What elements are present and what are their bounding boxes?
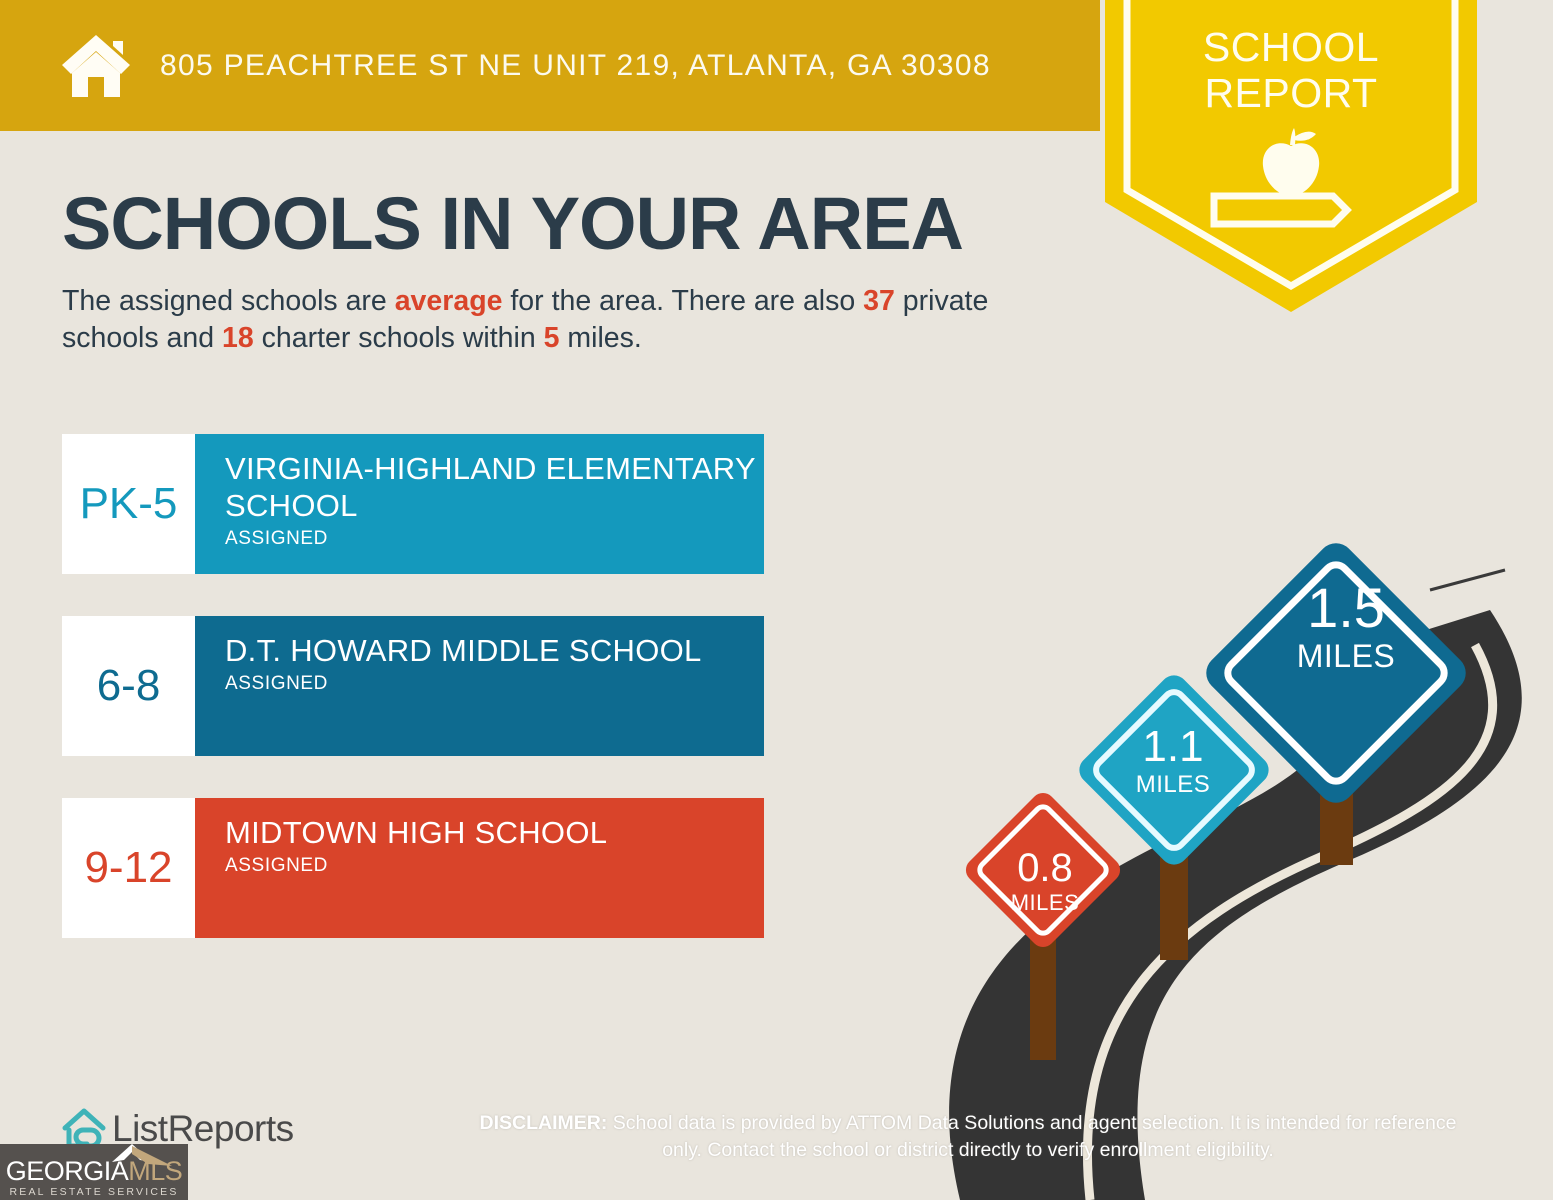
grade-range-badge: 9-12 bbox=[62, 798, 195, 938]
grade-range-label: 9-12 bbox=[84, 843, 172, 893]
school-card-body: VIRGINIA-HIGHLAND ELEMENTARY SCHOOL ASSI… bbox=[195, 434, 764, 574]
mls-georgia-text: GEORGIA bbox=[6, 1156, 129, 1186]
grade-range-label: 6-8 bbox=[97, 661, 161, 711]
school-status: ASSIGNED bbox=[225, 855, 764, 877]
school-name: VIRGINIA-HIGHLAND ELEMENTARY SCHOOL bbox=[225, 450, 764, 524]
grade-range-badge: PK-5 bbox=[62, 434, 195, 574]
georgia-mls-logo[interactable]: GEORGIAMLS REAL ESTATE SERVICES bbox=[0, 1144, 188, 1200]
school-card[interactable]: PK-5 VIRGINIA-HIGHLAND ELEMENTARY SCHOOL… bbox=[62, 434, 764, 574]
summary-part-4: charter schools within bbox=[254, 322, 544, 354]
rating-value: average bbox=[395, 285, 503, 317]
search-radius: 5 bbox=[544, 322, 560, 354]
grade-range-badge: 6-8 bbox=[62, 616, 195, 756]
property-address: 805 PEACHTREE ST NE UNIT 219, ATLANTA, G… bbox=[160, 49, 991, 83]
mls-wordmark: GEORGIAMLS bbox=[0, 1156, 188, 1187]
school-card[interactable]: 6-8 D.T. HOWARD MIDDLE SCHOOL ASSIGNED bbox=[62, 616, 764, 756]
school-name: D.T. HOWARD MIDDLE SCHOOL bbox=[225, 632, 764, 669]
school-card-body: D.T. HOWARD MIDDLE SCHOOL ASSIGNED bbox=[195, 616, 764, 756]
school-card-body: MIDTOWN HIGH SCHOOL ASSIGNED bbox=[195, 798, 764, 938]
distance-road-illustration bbox=[930, 470, 1553, 1200]
page-title: SCHOOLS IN YOUR AREA bbox=[62, 185, 963, 263]
school-name: MIDTOWN HIGH SCHOOL bbox=[225, 814, 764, 851]
school-card-list: PK-5 VIRGINIA-HIGHLAND ELEMENTARY SCHOOL… bbox=[62, 434, 764, 980]
summary-part-1: The assigned schools are bbox=[62, 285, 395, 317]
mls-tagline: REAL ESTATE SERVICES bbox=[0, 1186, 188, 1198]
summary-text: The assigned schools are average for the… bbox=[62, 283, 1092, 357]
header-bar: 805 PEACHTREE ST NE UNIT 219, ATLANTA, G… bbox=[0, 0, 1100, 131]
grade-range-label: PK-5 bbox=[80, 479, 178, 529]
home-icon bbox=[58, 33, 134, 99]
school-status: ASSIGNED bbox=[225, 673, 764, 695]
mls-mls-text: MLS bbox=[128, 1156, 182, 1186]
disclaimer-label: DISCLAIMER: bbox=[480, 1112, 608, 1134]
sign-wire bbox=[1430, 570, 1505, 590]
school-card[interactable]: 9-12 MIDTOWN HIGH SCHOOL ASSIGNED bbox=[62, 798, 764, 938]
summary-part-5: miles. bbox=[559, 322, 641, 354]
school-report-infographic: 805 PEACHTREE ST NE UNIT 219, ATLANTA, G… bbox=[0, 0, 1553, 1200]
school-report-badge: SCHOOL REPORT bbox=[1105, 0, 1477, 312]
school-status: ASSIGNED bbox=[225, 528, 764, 550]
charter-school-count: 18 bbox=[222, 322, 254, 354]
private-school-count: 37 bbox=[863, 285, 895, 317]
summary-part-2: for the area. There are also bbox=[502, 285, 863, 317]
disclaimer-text: School data is provided by ATTOM Data So… bbox=[607, 1112, 1456, 1161]
disclaimer: DISCLAIMER: School data is provided by A… bbox=[458, 1110, 1478, 1164]
